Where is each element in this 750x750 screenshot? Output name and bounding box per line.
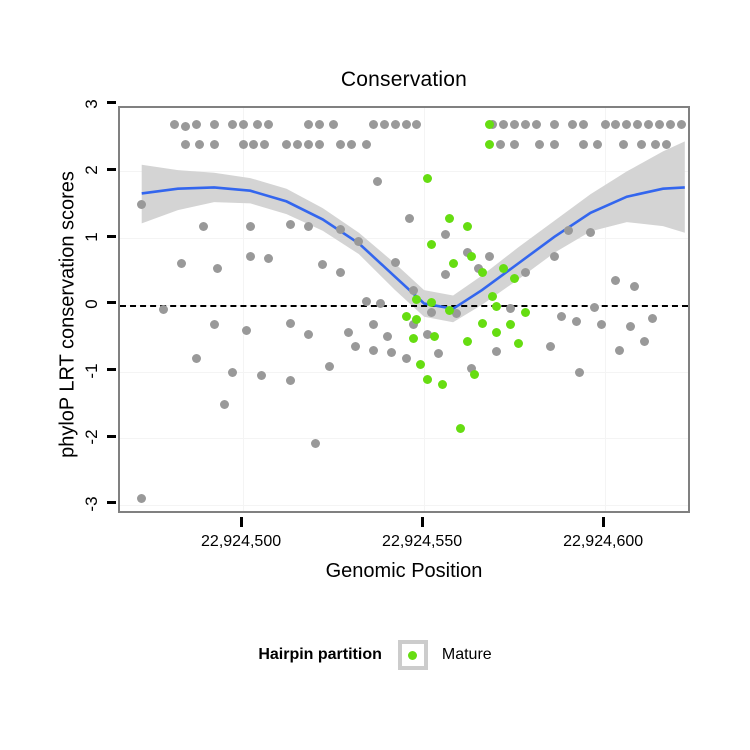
data-point-other <box>532 120 541 129</box>
data-point-other <box>344 328 353 337</box>
data-point-other <box>195 140 204 149</box>
y-tick-label: 2 <box>82 153 102 187</box>
data-point-other <box>550 120 559 129</box>
data-point-other <box>199 222 208 231</box>
data-point-other <box>192 354 201 363</box>
data-point-other <box>391 258 400 267</box>
data-point-other <box>564 226 573 235</box>
data-point-other <box>304 120 313 129</box>
y-tick-mark <box>107 235 116 238</box>
data-point-other <box>579 140 588 149</box>
data-point-other <box>177 259 186 268</box>
data-point-other <box>579 120 588 129</box>
data-point-mature <box>478 268 487 277</box>
x-tick-mark <box>602 517 605 527</box>
data-point-other <box>405 214 414 223</box>
data-point-other <box>315 140 324 149</box>
legend-dot-icon <box>408 651 417 660</box>
data-point-mature <box>463 222 472 231</box>
data-point-other <box>239 140 248 149</box>
data-point-mature <box>409 334 418 343</box>
data-point-other <box>293 140 302 149</box>
data-point-other <box>286 220 295 229</box>
data-point-other <box>286 319 295 328</box>
data-point-other <box>409 286 418 295</box>
data-point-other <box>590 303 599 312</box>
data-point-other <box>412 120 421 129</box>
legend-key-mature[interactable] <box>398 640 428 670</box>
data-point-mature <box>445 214 454 223</box>
data-point-mature <box>499 264 508 273</box>
data-point-other <box>550 140 559 149</box>
legend-label-mature: Mature <box>442 646 492 664</box>
data-point-other <box>137 494 146 503</box>
data-point-other <box>499 120 508 129</box>
data-point-mature <box>456 424 465 433</box>
data-point-other <box>347 140 356 149</box>
data-point-other <box>210 320 219 329</box>
data-point-mature <box>402 312 411 321</box>
data-point-other <box>510 140 519 149</box>
data-point-other <box>170 120 179 129</box>
data-point-other <box>286 376 295 385</box>
data-point-other <box>651 140 660 149</box>
data-point-other <box>257 371 266 380</box>
x-tick-mark <box>421 517 424 527</box>
data-point-other <box>362 140 371 149</box>
data-point-other <box>615 346 624 355</box>
x-tick-label: 22,924,600 <box>533 533 673 551</box>
data-point-mature <box>485 120 494 129</box>
conservation-scatter-figure: Conservation phyloP LRT conservation sco… <box>0 0 750 750</box>
data-point-other <box>242 326 251 335</box>
data-point-other <box>593 140 602 149</box>
y-tick-label: -3 <box>82 487 102 521</box>
data-point-other <box>637 140 646 149</box>
data-point-other <box>239 120 248 129</box>
data-point-other <box>304 140 313 149</box>
data-point-other <box>619 140 628 149</box>
x-tick-label: 22,924,550 <box>352 533 492 551</box>
data-point-other <box>662 140 671 149</box>
page-title: Conservation <box>118 68 690 92</box>
data-point-other <box>546 342 555 351</box>
data-point-other <box>264 254 273 263</box>
data-point-mature <box>467 252 476 261</box>
data-point-other <box>535 140 544 149</box>
y-tick-mark <box>107 501 116 504</box>
loess-trend-line <box>120 108 690 513</box>
data-point-other <box>260 140 269 149</box>
data-point-other <box>311 439 320 448</box>
data-point-mature <box>463 337 472 346</box>
data-point-mature <box>492 302 501 311</box>
data-point-other <box>380 120 389 129</box>
y-axis-title: phyloP LRT conservation scores <box>57 105 80 525</box>
data-point-mature <box>514 339 523 348</box>
y-tick-label: 0 <box>82 287 102 321</box>
data-point-other <box>213 264 222 273</box>
data-point-other <box>622 120 631 129</box>
data-point-other <box>648 314 657 323</box>
data-point-other <box>402 354 411 363</box>
data-point-other <box>253 120 262 129</box>
data-point-other <box>655 120 664 129</box>
data-point-other <box>677 120 686 129</box>
data-point-other <box>329 120 338 129</box>
data-point-other <box>568 120 577 129</box>
data-point-other <box>572 317 581 326</box>
y-tick-label: -1 <box>82 354 102 388</box>
data-point-other <box>630 282 639 291</box>
data-point-other <box>228 120 237 129</box>
data-point-other <box>644 120 653 129</box>
data-point-other <box>402 120 411 129</box>
y-tick-label: 1 <box>82 220 102 254</box>
data-point-other <box>496 140 505 149</box>
data-point-other <box>159 305 168 314</box>
data-point-mature <box>445 306 454 315</box>
data-point-other <box>485 252 494 261</box>
y-tick-mark <box>107 101 116 104</box>
data-point-other <box>510 120 519 129</box>
data-point-other <box>192 120 201 129</box>
y-tick-mark <box>107 435 116 438</box>
x-axis-title: Genomic Position <box>118 560 690 583</box>
legend: Hairpin partition Mature <box>0 640 750 670</box>
data-point-other <box>315 120 324 129</box>
data-point-mature <box>485 140 494 149</box>
data-point-mature <box>510 274 519 283</box>
data-point-other <box>601 120 610 129</box>
data-point-other <box>181 122 190 131</box>
y-tick-label: -2 <box>82 420 102 454</box>
data-point-other <box>373 177 382 186</box>
data-point-other <box>362 297 371 306</box>
data-point-other <box>521 120 530 129</box>
data-point-mature <box>449 259 458 268</box>
y-tick-mark <box>107 368 116 371</box>
x-tick-mark <box>240 517 243 527</box>
y-tick-mark <box>107 168 116 171</box>
data-point-other <box>626 322 635 331</box>
data-point-other <box>633 120 642 129</box>
data-point-other <box>282 140 291 149</box>
data-point-other <box>391 120 400 129</box>
data-point-other <box>336 140 345 149</box>
x-tick-label: 22,924,500 <box>171 533 311 551</box>
data-point-other <box>249 140 258 149</box>
data-point-other <box>210 140 219 149</box>
data-point-other <box>611 120 620 129</box>
data-point-other <box>210 120 219 129</box>
data-point-other <box>181 140 190 149</box>
data-point-mature <box>423 174 432 183</box>
legend-title: Hairpin partition <box>258 646 382 664</box>
y-tick-label: 3 <box>82 87 102 121</box>
data-point-other <box>264 120 273 129</box>
data-point-other <box>304 222 313 231</box>
data-point-other <box>369 120 378 129</box>
plot-panel <box>118 106 690 513</box>
data-point-other <box>666 120 675 129</box>
data-point-mature <box>478 319 487 328</box>
y-tick-mark <box>107 301 116 304</box>
data-point-other <box>492 347 501 356</box>
